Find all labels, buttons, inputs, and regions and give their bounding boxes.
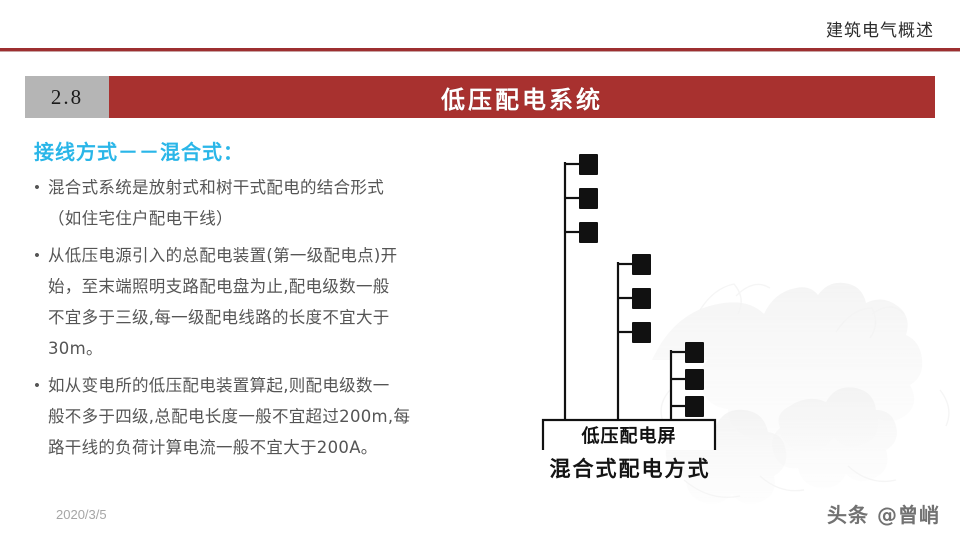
list-item: • 如从变电所的低压配电装置算起,则配电级数一 般不多于四级,总配电长度一般不宜… — [26, 370, 496, 463]
list-item: • 混合式系统是放射式和树干式配电的结合形式 （如住宅住户配电干线） — [26, 172, 496, 234]
distribution-diagram: 低压配电屏 混合式配电方式 — [505, 150, 755, 495]
bullet-line: 30m。 — [48, 333, 496, 364]
date-stamp: 2020/3/5 — [56, 507, 107, 522]
page-title: 低压配电系统 — [109, 76, 935, 118]
bullet-text: 混合式系统是放射式和树干式配电的结合形式 （如住宅住户配电干线） — [48, 172, 496, 234]
load-box — [685, 369, 704, 390]
load-boxes — [579, 154, 704, 417]
load-box — [685, 342, 704, 363]
subsection-heading: 接线方式－－混合式： — [34, 136, 244, 165]
bullet-line: 般不多于四级,总配电长度一般不宜超过200m,每 — [48, 401, 496, 432]
header-title: 建筑电气概述 — [826, 16, 934, 41]
load-box — [579, 188, 598, 209]
bullet-list: • 混合式系统是放射式和树干式配电的结合形式 （如住宅住户配电干线） • 从低压… — [26, 172, 496, 469]
bullet-text: 如从变电所的低压配电装置算起,则配电级数一 般不多于四级,总配电长度一般不宜超过… — [48, 370, 496, 463]
bullet-line: 混合式系统是放射式和树干式配电的结合形式 — [48, 172, 496, 203]
load-box — [685, 396, 704, 417]
bullet-line: 如从变电所的低压配电装置算起,则配电级数一 — [48, 370, 496, 401]
main-panel-label: 低压配电屏 — [581, 425, 677, 446]
bullet-marker-icon: • — [26, 370, 48, 463]
bullet-line: 从低压电源引入的总配电装置(第一级配电点)开 — [48, 240, 496, 271]
load-box — [632, 322, 651, 343]
bullet-line: 始，至末端照明支路配电盘为止,配电级数一般 — [48, 271, 496, 302]
bullet-marker-icon: • — [26, 172, 48, 234]
load-box — [632, 254, 651, 275]
section-number: 2.8 — [25, 76, 109, 118]
bullet-marker-icon: • — [26, 240, 48, 364]
bullet-line: 路干线的负荷计算电流一般不宜大于200A。 — [48, 432, 496, 463]
slide-title-band: 2.8 低压配电系统 — [25, 76, 935, 118]
header-divider — [0, 48, 960, 51]
author-watermark: 头条 @曾峭 — [827, 499, 940, 528]
list-item: • 从低压电源引入的总配电装置(第一级配电点)开 始，至末端照明支路配电盘为止,… — [26, 240, 496, 364]
load-box — [632, 288, 651, 309]
bullet-line: 不宜多于三级,每一级配电线路的长度不宜大于 — [48, 302, 496, 333]
diagram-caption: 混合式配电方式 — [505, 453, 755, 483]
load-box — [579, 222, 598, 243]
slide-root: 建筑电气概述 2.8 低压配电系统 接线方式－－混合式： • 混合式系统是放射式… — [0, 0, 960, 540]
bullet-line: （如住宅住户配电干线） — [48, 203, 496, 234]
bullet-text: 从低压电源引入的总配电装置(第一级配电点)开 始，至末端照明支路配电盘为止,配电… — [48, 240, 496, 364]
load-box — [579, 154, 598, 175]
